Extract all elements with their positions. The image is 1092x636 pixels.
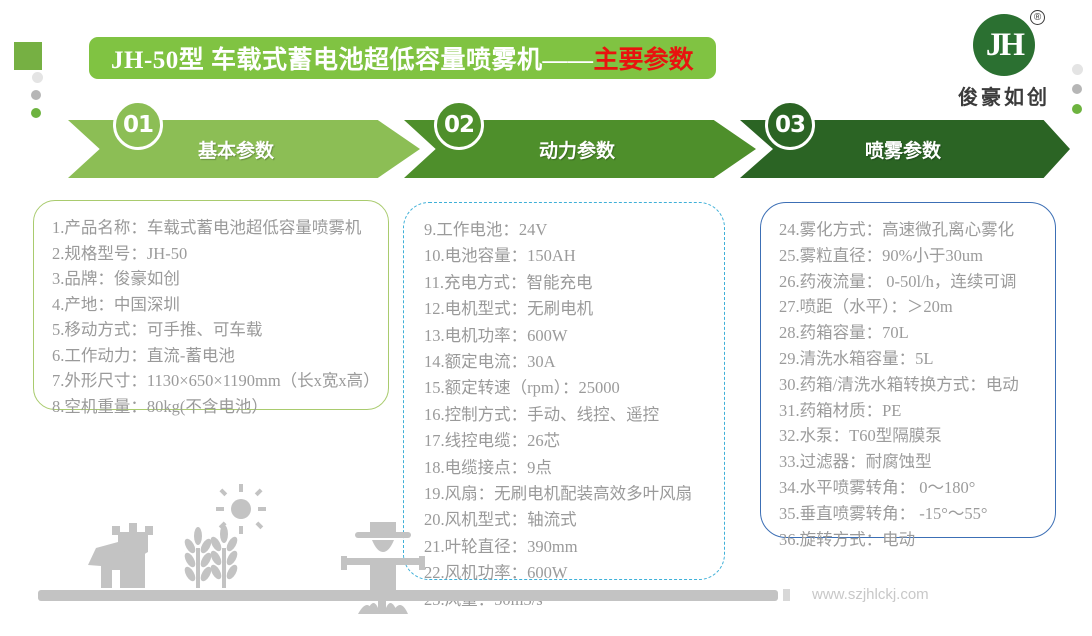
brand-logo: JH ® 俊豪如创 — [938, 14, 1070, 110]
page-title-main: JH-50型 车载式蓄电池超低容量喷雾机—— — [111, 40, 594, 76]
list-item: 4.产地：中国深圳 — [34, 292, 388, 318]
section-label-basic: 基本参数 — [198, 136, 274, 163]
list-item: 32.水泵：T60型隔膜泵 — [761, 423, 1055, 449]
section-label-spray: 喷雾参数 — [865, 136, 941, 163]
list-item: 17.线控电缆：26芯 — [404, 428, 724, 454]
section-header-band: 基本参数 动力参数 喷雾参数 — [0, 120, 1092, 178]
list-item: 13.电机功率：600W — [404, 323, 724, 349]
brand-name: 俊豪如创 — [938, 81, 1070, 110]
decorative-dot-left-3 — [31, 108, 41, 118]
section-number-badge-02: 02 — [434, 100, 484, 150]
list-item: 5.移动方式：可手推、可车载 — [34, 317, 388, 343]
list-item: 1.产品名称：车载式蓄电池超低容量喷雾机 — [34, 215, 388, 241]
list-item: 26.药液流量： 0-50l/h，连续可调 — [761, 269, 1055, 295]
list-item: 12.电机型式：无刷电机 — [404, 296, 724, 322]
list-item: 33.过滤器：耐腐蚀型 — [761, 449, 1055, 475]
list-item: 34.水平喷雾转角： 0～180° — [761, 475, 1055, 501]
spec-card-spray: 24.雾化方式：高速微孔离心雾化 25.雾粒直径：90%小于30um 26.药液… — [760, 202, 1056, 538]
list-item: 11.充电方式：智能充电 — [404, 270, 724, 296]
list-item: 6.工作动力：直流-蓄电池 — [34, 343, 388, 369]
list-item: 24.雾化方式：高速微孔离心雾化 — [761, 217, 1055, 243]
list-item: 2.规格型号：JH-50 — [34, 241, 388, 267]
list-item: 30.药箱/清洗水箱转换方式：电动 — [761, 372, 1055, 398]
list-item: 14.额定电流：30A — [404, 349, 724, 375]
list-item: 29.清洗水箱容量：5L — [761, 346, 1055, 372]
section-number-badge-03: 03 — [765, 100, 815, 150]
logo-mark-icon: JH ® — [973, 14, 1035, 76]
decorative-dot-right-2 — [1072, 84, 1082, 94]
decorative-dot-left-1 — [32, 72, 43, 83]
logo-monogram: JH — [986, 27, 1022, 64]
list-item: 9.工作电池：24V — [404, 217, 724, 243]
footer-website-url: www.szjhlckj.com — [812, 586, 929, 603]
list-item: 8.空机重量：80kg(不含电池） — [34, 394, 388, 420]
list-item: 7.外形尺寸：1130×650×1190mm（长x宽x高） — [34, 368, 388, 394]
list-item: 10.电池容量：150AH — [404, 243, 724, 269]
list-item: 28.药箱容量：70L — [761, 320, 1055, 346]
page-title-accent: 主要参数 — [594, 40, 694, 76]
spec-list-basic: 1.产品名称：车载式蓄电池超低容量喷雾机 2.规格型号：JH-50 3.品牌：俊… — [34, 201, 388, 419]
list-item: 35.垂直喷雾转角： -15°～55° — [761, 501, 1055, 527]
section-label-power: 动力参数 — [539, 136, 615, 163]
footer-marker — [783, 589, 790, 601]
list-item: 27.喷距（水平）：＞20m — [761, 294, 1055, 320]
list-item: 16.控制方式：手动、线控、遥控 — [404, 402, 724, 428]
wheat-icon — [183, 525, 240, 588]
decorative-dot-right-3 — [1072, 104, 1082, 114]
list-item: 25.雾粒直径：90%小于30um — [761, 243, 1055, 269]
cow-icon — [88, 523, 153, 588]
decorative-dot-right-1 — [1072, 64, 1083, 75]
spec-card-basic: 1.产品名称：车载式蓄电池超低容量喷雾机 2.规格型号：JH-50 3.品牌：俊… — [33, 200, 389, 410]
spec-list-spray: 24.雾化方式：高速微孔离心雾化 25.雾粒直径：90%小于30um 26.药液… — [761, 203, 1055, 552]
page-title: JH-50型 车载式蓄电池超低容量喷雾机—— 主要参数 — [89, 37, 716, 79]
list-item: 31.药箱材质：PE — [761, 398, 1055, 424]
list-item: 36.旋转方式：电动 — [761, 527, 1055, 553]
ground-line — [38, 590, 778, 601]
section-number-badge-01: 01 — [113, 100, 163, 150]
list-item: 3.品牌：俊豪如创 — [34, 266, 388, 292]
registered-trademark-icon: ® — [1030, 10, 1045, 25]
list-item: 15.额定转速（rpm）：25000 — [404, 375, 724, 401]
decorative-square — [14, 42, 42, 70]
decorative-dot-left-2 — [31, 90, 41, 100]
